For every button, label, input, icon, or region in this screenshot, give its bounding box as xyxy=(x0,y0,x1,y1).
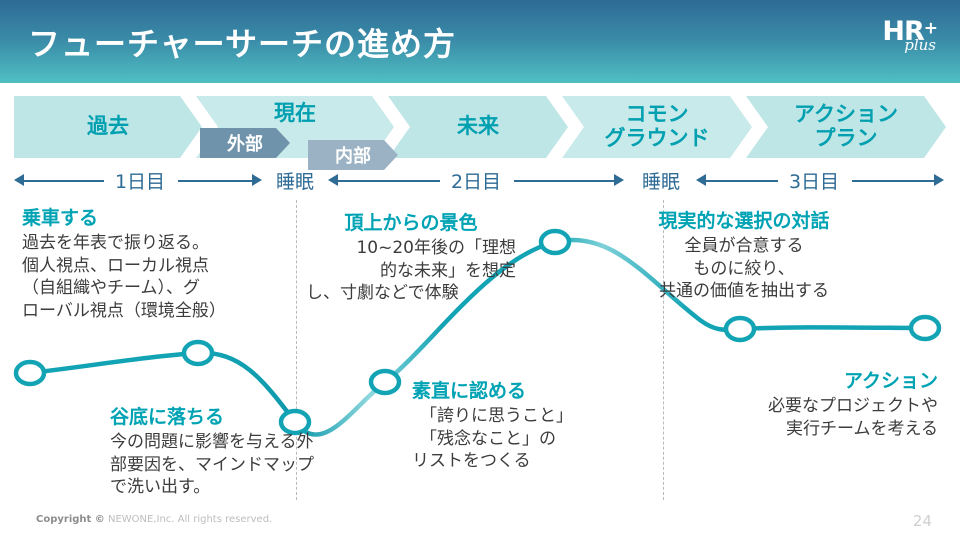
step-body-line: で洗い出す。 xyxy=(110,476,386,499)
copyright-text: NEWONE,Inc. All rights reserved. xyxy=(105,514,272,525)
step-block-summit-view: 頂上からの景色 10~20年後の「理想 的な未来」を想定 し、寸劇などで体験 xyxy=(306,208,516,305)
step-body-line: ものに絞り、 xyxy=(610,258,878,281)
step-body-line: 過去を年表で振り返る。 xyxy=(22,232,290,255)
step-heading-valley-bottom: 谷底に落ちる xyxy=(110,402,386,429)
step-heading-action: アクション xyxy=(690,366,938,393)
copyright-notice: Copyright © NEWONE,Inc. All rights reser… xyxy=(36,514,272,525)
step-body-action: 必要なプロジェクトや 実行チームを考える xyxy=(690,395,938,440)
step-body-line: し、寸劇などで体験 xyxy=(306,282,516,305)
step-block-valley-bottom: 谷底に落ちる 今の問題に影響を与える外 部要因を、マインドマップ で洗い出す。 xyxy=(110,402,386,499)
step-block-boarding: 乗車する 過去を年表で振り返る。 個人視点、ローカル視点 （自組織やチーム）、グ… xyxy=(22,203,290,322)
step-body-line: 10~20年後の「理想 xyxy=(306,237,516,260)
curve-node-4[interactable] xyxy=(371,371,399,393)
step-body-line: リストをつくる xyxy=(412,450,626,473)
step-heading-summit-view: 頂上からの景色 xyxy=(306,208,516,235)
copyright-mark: Copyright © xyxy=(36,514,105,525)
step-block-action: アクション 必要なプロジェクトや 実行チームを考える xyxy=(690,366,938,440)
curve-node-5[interactable] xyxy=(541,231,569,253)
step-body-line: 今の問題に影響を与える外 xyxy=(110,431,386,454)
step-body-line: 部要因を、マインドマップ xyxy=(110,454,386,477)
step-body-line: 全員が合意する xyxy=(610,235,878,258)
step-body-line: 「誇りに思うこと」 xyxy=(412,405,626,428)
step-body-valley-bottom: 今の問題に影響を与える外 部要因を、マインドマップ で洗い出す。 xyxy=(110,431,386,499)
step-body-line: 必要なプロジェクトや xyxy=(690,395,938,418)
step-body-realistic-dialogue: 全員が合意する ものに絞り、 共通の価値を抽出する xyxy=(610,235,878,303)
step-heading-realistic-dialogue: 現実的な選択の対話 xyxy=(610,206,878,233)
step-body-line: ローバル視点（環境全般） xyxy=(22,300,290,323)
step-body-honest-acknowledgement: 「誇りに思うこと」 「残念なこと」の リストをつくる xyxy=(412,405,626,473)
step-body-line: （自組織やチーム）、グ xyxy=(22,277,290,300)
curve-node-7[interactable] xyxy=(911,317,939,339)
page-number: 24 xyxy=(913,512,932,530)
curve-node-2[interactable] xyxy=(184,342,212,364)
curve-node-6[interactable] xyxy=(726,318,754,340)
step-block-honest-acknowledgement: 素直に認める 「誇りに思うこと」 「残念なこと」の リストをつくる xyxy=(412,376,626,473)
step-heading-boarding: 乗車する xyxy=(22,203,290,230)
step-body-summit-view: 10~20年後の「理想 的な未来」を想定 し、寸劇などで体験 xyxy=(306,237,516,305)
step-body-line: 実行チームを考える xyxy=(690,418,938,441)
step-body-line: 個人視点、ローカル視点 xyxy=(22,255,290,278)
step-body-boarding: 過去を年表で振り返る。 個人視点、ローカル視点 （自組織やチーム）、グ ローバル… xyxy=(22,232,290,322)
curve-node-1[interactable] xyxy=(16,362,44,384)
slide: フューチャーサーチの進め方 HR+ plus 過去 現在 未来 コモン グラウン… xyxy=(0,0,960,540)
step-heading-honest-acknowledgement: 素直に認める xyxy=(412,376,626,403)
step-body-line: 的な未来」を想定 xyxy=(306,260,516,283)
step-body-line: 共通の価値を抽出する xyxy=(610,280,878,303)
step-block-realistic-dialogue: 現実的な選択の対話 全員が合意する ものに絞り、 共通の価値を抽出する xyxy=(610,206,878,303)
step-body-line: 「残念なこと」の xyxy=(412,428,626,451)
